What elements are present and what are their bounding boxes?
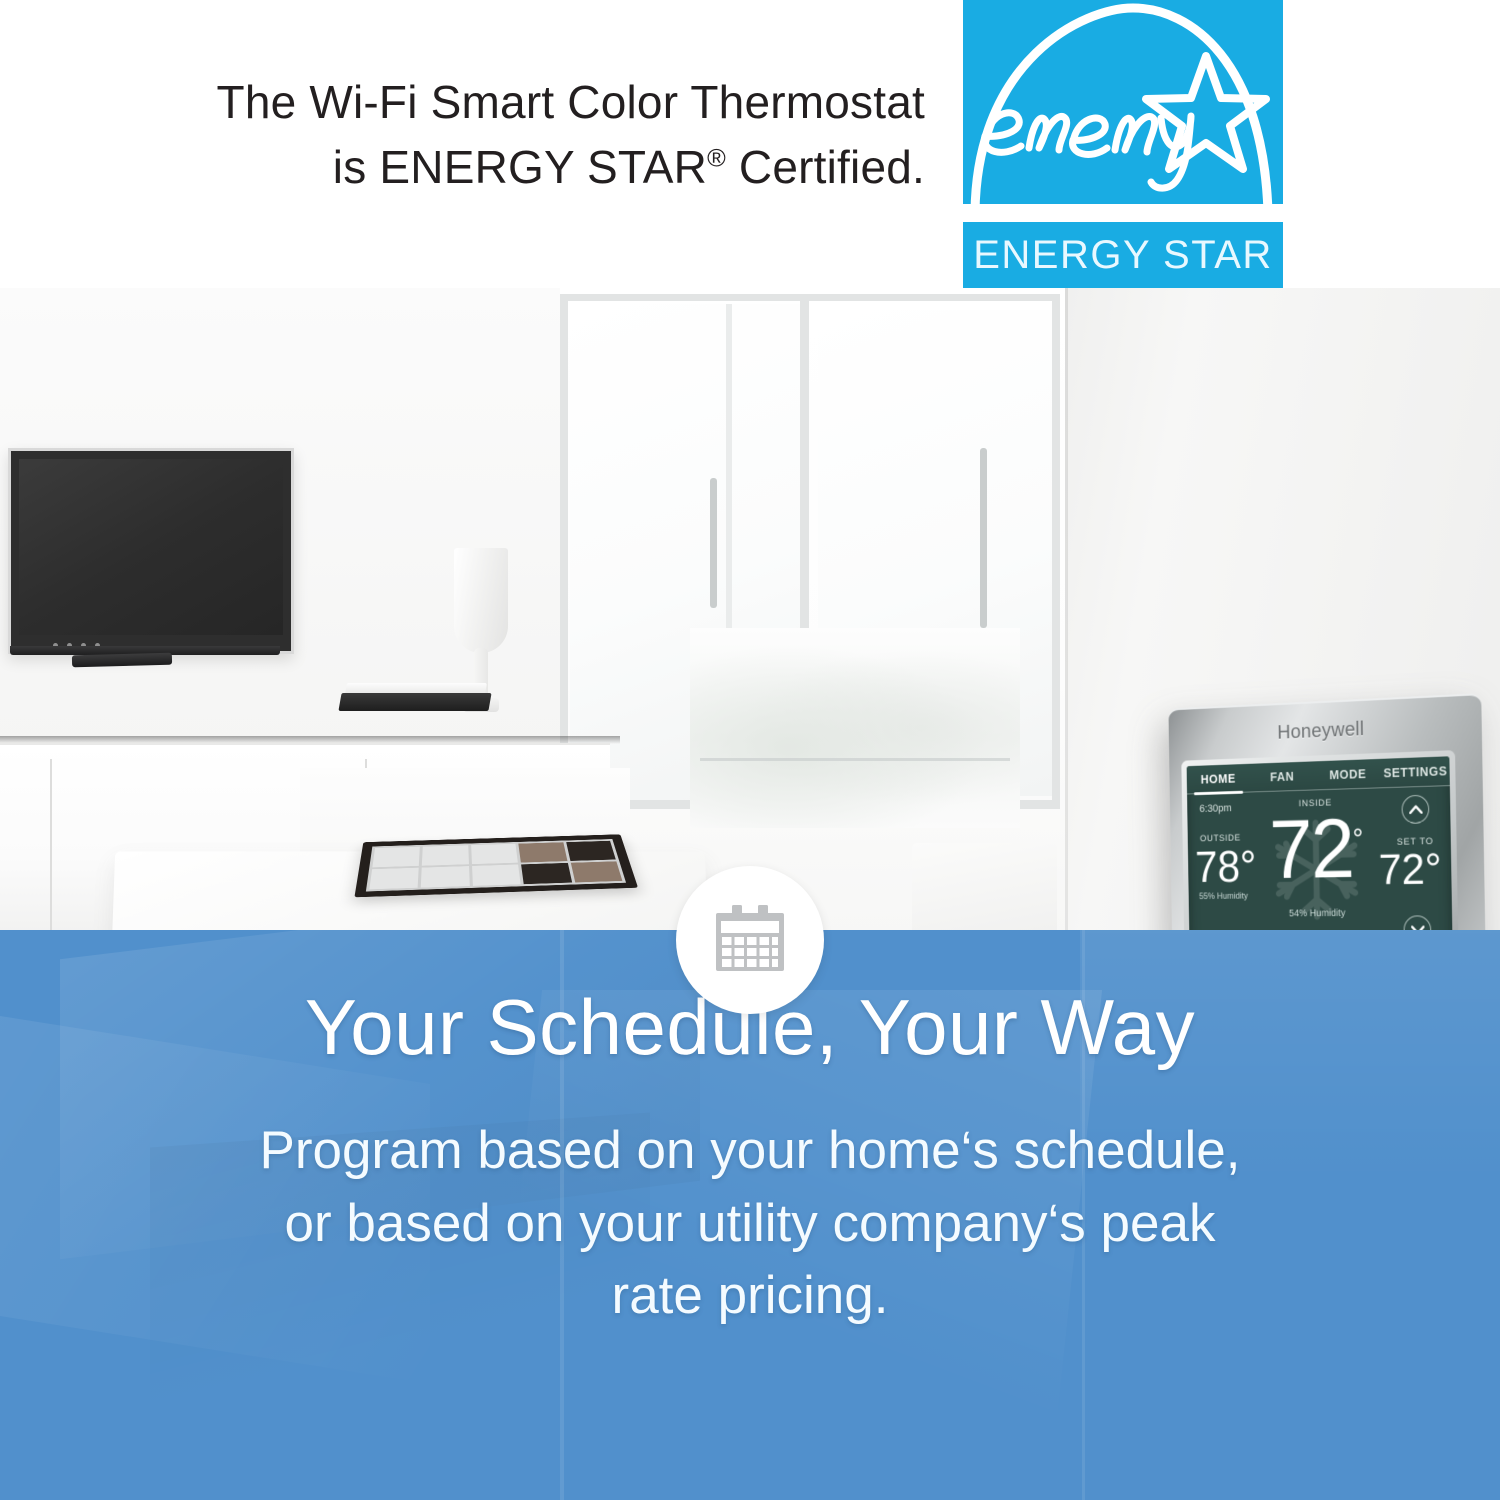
page-title: The Wi-Fi Smart Color Thermostat is ENER… <box>110 70 925 201</box>
headline-line-2-pre: is ENERGY STAR <box>333 141 707 193</box>
calendar-icon <box>712 902 788 978</box>
tab-home[interactable]: HOME <box>1187 771 1250 786</box>
headline-line-2-post: Certified. <box>726 141 925 193</box>
window-handle-left <box>710 478 717 608</box>
energy-star-logo: ENERGY STAR <box>963 0 1283 288</box>
flat-screen-tv <box>8 448 294 654</box>
outdoor-view <box>690 628 1020 828</box>
headline-line-1: The Wi-Fi Smart Color Thermostat <box>110 70 925 135</box>
sliding-glass-window <box>560 288 1070 938</box>
tray-cell <box>369 867 419 889</box>
tray-cell <box>372 847 420 867</box>
window-frame-right <box>1052 294 1060 809</box>
banner-body-line-1: Program based on your home‘s schedule, <box>0 1115 1500 1188</box>
banner-description: Program based on your home‘s schedule, o… <box>0 1115 1500 1333</box>
calendar-badge <box>676 866 824 1014</box>
window-handle-right <box>980 448 987 628</box>
tray-cell <box>566 841 616 861</box>
inside-temperature-value: 72 <box>1269 802 1354 896</box>
banner-body-line-3: rate pricing. <box>0 1260 1500 1333</box>
serving-tray <box>354 834 638 897</box>
headline-line-2: is ENERGY STAR® Certified. <box>110 135 925 200</box>
window-frame-top <box>560 294 1060 301</box>
set-to-temperature: 72° <box>1378 848 1442 892</box>
thermostat-nav-bar[interactable]: HOME FAN MODE SETTINGS <box>1187 756 1450 794</box>
feature-banner: Your Schedule, Your Way Program based on… <box>0 930 1500 1500</box>
energy-star-wordmark: ENERGY STAR <box>963 222 1283 288</box>
tray-cell <box>519 842 567 862</box>
energy-star-band-text: ENERGY STAR <box>973 233 1273 278</box>
tray-cell <box>421 866 469 888</box>
tab-settings[interactable]: SETTINGS <box>1381 764 1450 780</box>
book-black <box>338 693 491 711</box>
tray-cell <box>472 864 521 886</box>
energy-star-mark <box>963 0 1283 212</box>
vase-bowl <box>454 548 508 653</box>
registered-trademark-symbol: ® <box>707 145 726 173</box>
tray-compartments <box>366 839 626 891</box>
tab-mode[interactable]: MODE <box>1315 766 1382 782</box>
tray-cell <box>521 863 572 885</box>
outside-humidity: 55% Humidity <box>1199 891 1248 901</box>
tv-screen <box>19 459 283 635</box>
window-frame-left <box>560 294 568 809</box>
stacked-books <box>340 683 490 717</box>
tray-cell <box>422 845 469 865</box>
inside-degree-symbol: ° <box>1352 823 1363 854</box>
tray-cell <box>471 844 518 864</box>
balcony-railing <box>700 758 1010 761</box>
console-seam-1 <box>50 759 52 949</box>
energy-star-graphic <box>963 0 1283 212</box>
product-marketing-image: The Wi-Fi Smart Color Thermostat is ENER… <box>0 0 1500 1500</box>
tray-cell <box>570 861 622 882</box>
banner-body-line-2: or based on your utility company‘s peak <box>0 1188 1500 1261</box>
tab-fan[interactable]: FAN <box>1250 769 1315 785</box>
chevron-up-icon <box>1409 805 1422 814</box>
